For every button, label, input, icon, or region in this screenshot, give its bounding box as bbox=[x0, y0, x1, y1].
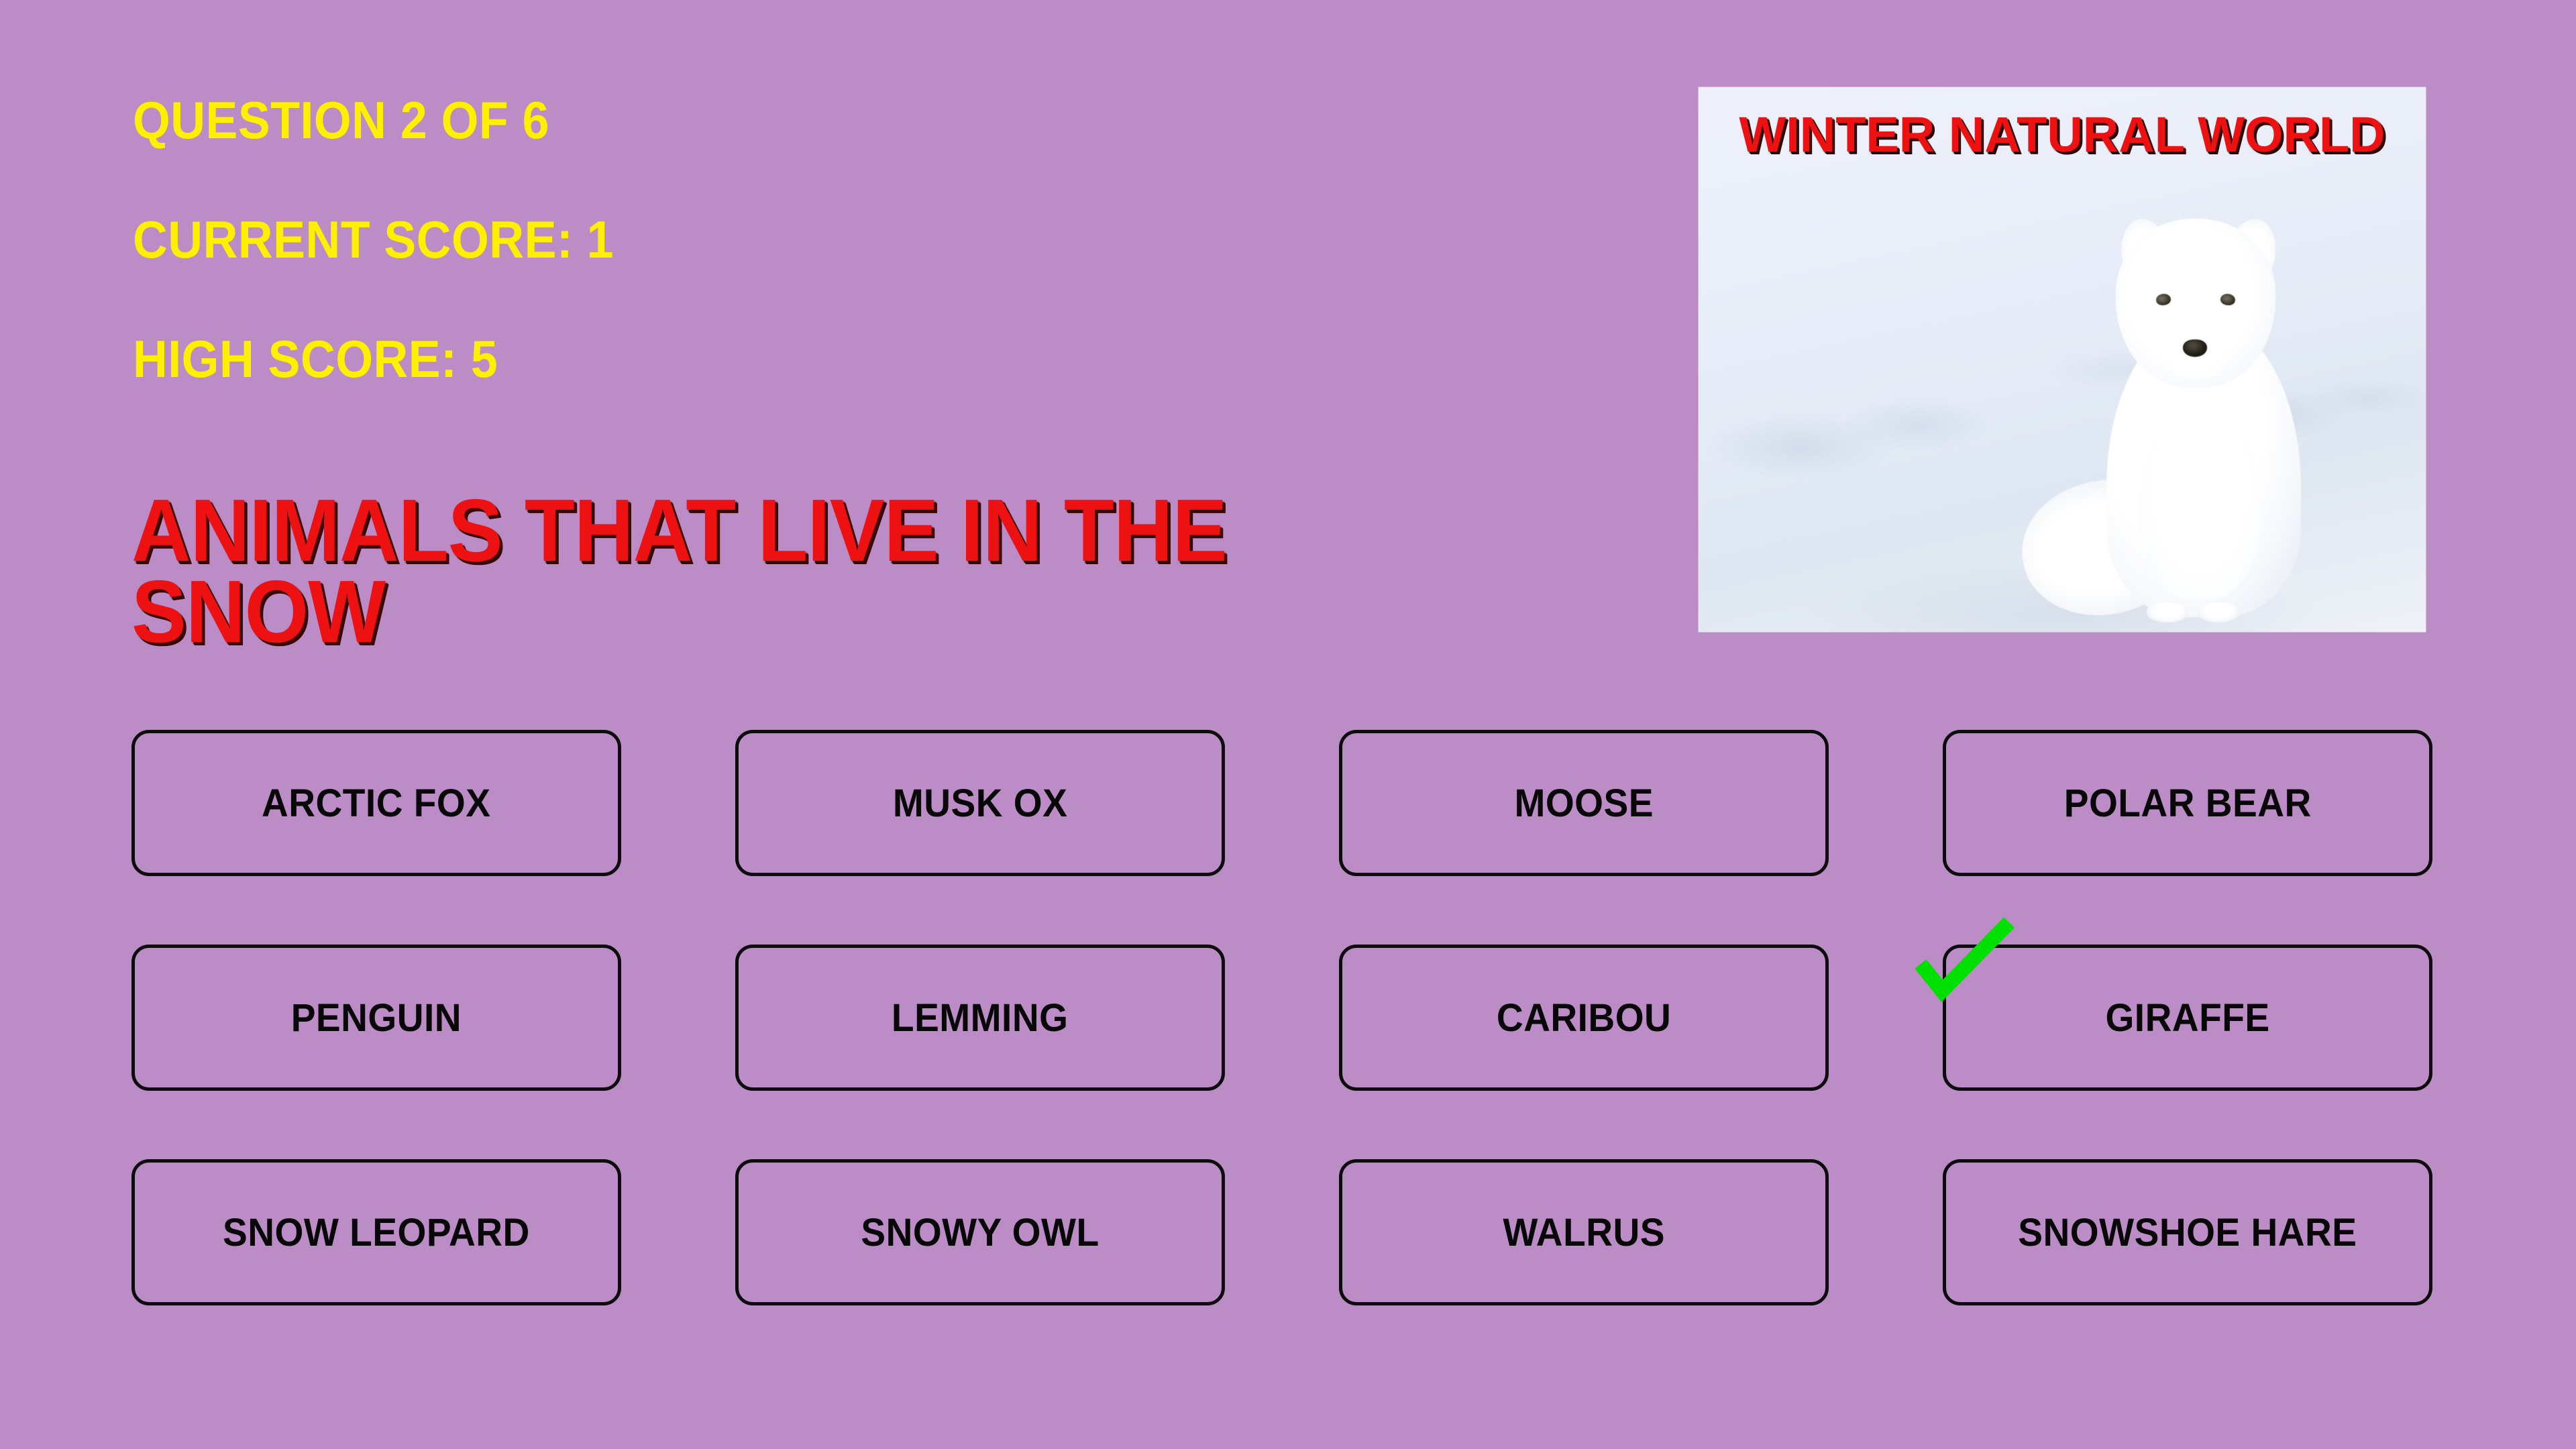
winter-natural-world-image-card: WINTER NATURAL WORLD bbox=[1699, 87, 2426, 632]
green-check-icon bbox=[1911, 916, 2019, 1010]
answer-button-label: SNOWSHOE HARE bbox=[2018, 1210, 2357, 1255]
answer-button[interactable]: SNOWY OWL bbox=[735, 1159, 1225, 1305]
answer-button-label: MOOSE bbox=[1514, 781, 1654, 826]
answer-button[interactable]: SNOW LEOPARD bbox=[131, 1159, 621, 1305]
image-card-title: WINTER NATURAL WORLD bbox=[1699, 111, 2426, 158]
answer-button-label: MUSK OX bbox=[893, 781, 1067, 826]
answer-button-label: CARIBOU bbox=[1497, 996, 1671, 1040]
answer-button-label: SNOW LEOPARD bbox=[223, 1210, 530, 1255]
question-title: ANIMALS THAT LIVE IN THE SNOW bbox=[131, 490, 1491, 653]
answer-options-grid: ARCTIC FOXMUSK OXMOOSEPOLAR BEARPENGUINL… bbox=[131, 730, 2432, 1305]
answer-button-label: GIRAFFE bbox=[2105, 996, 2269, 1040]
answer-button-label: PENGUIN bbox=[291, 996, 462, 1040]
question-progress-label: QUESTION 2 OF 6 bbox=[133, 94, 1305, 146]
high-score-label: HIGH SCORE: 5 bbox=[133, 333, 1305, 385]
answer-button[interactable]: SNOWSHOE HARE bbox=[1943, 1159, 2432, 1305]
answer-button-label: WALRUS bbox=[1503, 1210, 1665, 1255]
answer-button[interactable]: MOOSE bbox=[1339, 730, 1829, 876]
answer-button-label: LEMMING bbox=[892, 996, 1068, 1040]
answer-button-label: SNOWY OWL bbox=[861, 1210, 1099, 1255]
answer-button[interactable]: ARCTIC FOX bbox=[131, 730, 621, 876]
quiz-screen: QUESTION 2 OF 6 CURRENT SCORE: 1 HIGH SC… bbox=[0, 0, 2576, 1449]
answer-button-label: ARCTIC FOX bbox=[262, 781, 490, 826]
answer-button[interactable]: MUSK OX bbox=[735, 730, 1225, 876]
answer-button[interactable]: CARIBOU bbox=[1339, 945, 1829, 1091]
answer-button[interactable]: WALRUS bbox=[1339, 1159, 1829, 1305]
current-score-label: CURRENT SCORE: 1 bbox=[133, 213, 1305, 266]
answer-button[interactable]: LEMMING bbox=[735, 945, 1225, 1091]
answer-button[interactable]: POLAR BEAR bbox=[1943, 730, 2432, 876]
answer-button[interactable]: GIRAFFE bbox=[1943, 945, 2432, 1091]
arctic-fox-photo bbox=[2054, 215, 2343, 617]
answer-button[interactable]: PENGUIN bbox=[131, 945, 621, 1091]
answer-button-label: POLAR BEAR bbox=[2063, 781, 2311, 826]
score-panel: QUESTION 2 OF 6 CURRENT SCORE: 1 HIGH SC… bbox=[133, 94, 1407, 385]
